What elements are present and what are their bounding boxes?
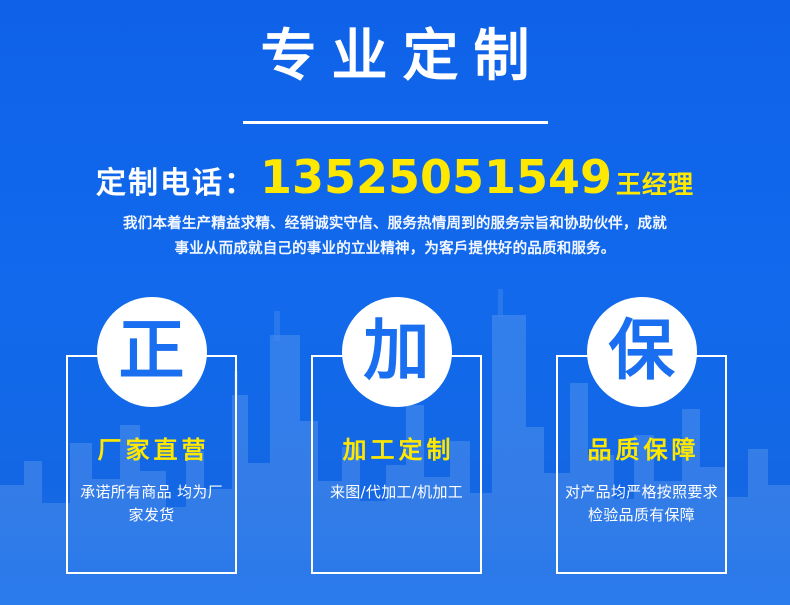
card-border-top-right	[693, 355, 727, 357]
phone-label: 定制电话：	[96, 166, 256, 201]
card-description: 来图/代加工/机加工	[319, 481, 474, 504]
page-title: 专业定制	[0, 28, 790, 87]
card-border-top-right	[448, 355, 482, 357]
card-border-top-right	[203, 355, 237, 357]
badge-character: 正	[119, 318, 185, 384]
card-border-top-left	[311, 355, 345, 357]
contact-person-name: 王经理	[616, 170, 694, 199]
phone-number[interactable]: 13525051549	[260, 150, 612, 204]
intro-paragraph: 我们本着生产精益求精、经销诚实守信、服务热情周到的服务宗旨和协助伙伴，成就事业从…	[120, 212, 670, 263]
badge-character: 保	[609, 318, 675, 384]
badge-character: 加	[364, 318, 430, 384]
card-description: 对产品均严格按照要求检验品质有保障	[564, 481, 719, 528]
card-title: 加工定制	[313, 430, 480, 465]
card-border-top-left	[556, 355, 590, 357]
feature-card-custom-processing: 加 加工定制 来图/代加工/机加工	[311, 355, 482, 574]
promo-banner: 专业定制 定制电话：13525051549王经理 我们本着生产精益求精、经销诚实…	[0, 0, 790, 605]
badge-circle-zheng: 正	[97, 297, 207, 407]
badge-circle-bao: 保	[587, 297, 697, 407]
card-description: 承诺所有商品 均为厂家发货	[74, 481, 229, 528]
card-border-top-left	[66, 355, 100, 357]
feature-card-quality-guarantee: 保 品质保障 对产品均严格按照要求检验品质有保障	[556, 355, 727, 574]
contact-phone-row: 定制电话：13525051549王经理	[0, 150, 790, 204]
badge-circle-jia: 加	[342, 297, 452, 407]
feature-card-factory-direct: 正 厂家直营 承诺所有商品 均为厂家发货	[66, 355, 237, 574]
card-title: 厂家直营	[68, 430, 235, 465]
title-divider	[243, 121, 548, 124]
card-title: 品质保障	[558, 430, 725, 465]
